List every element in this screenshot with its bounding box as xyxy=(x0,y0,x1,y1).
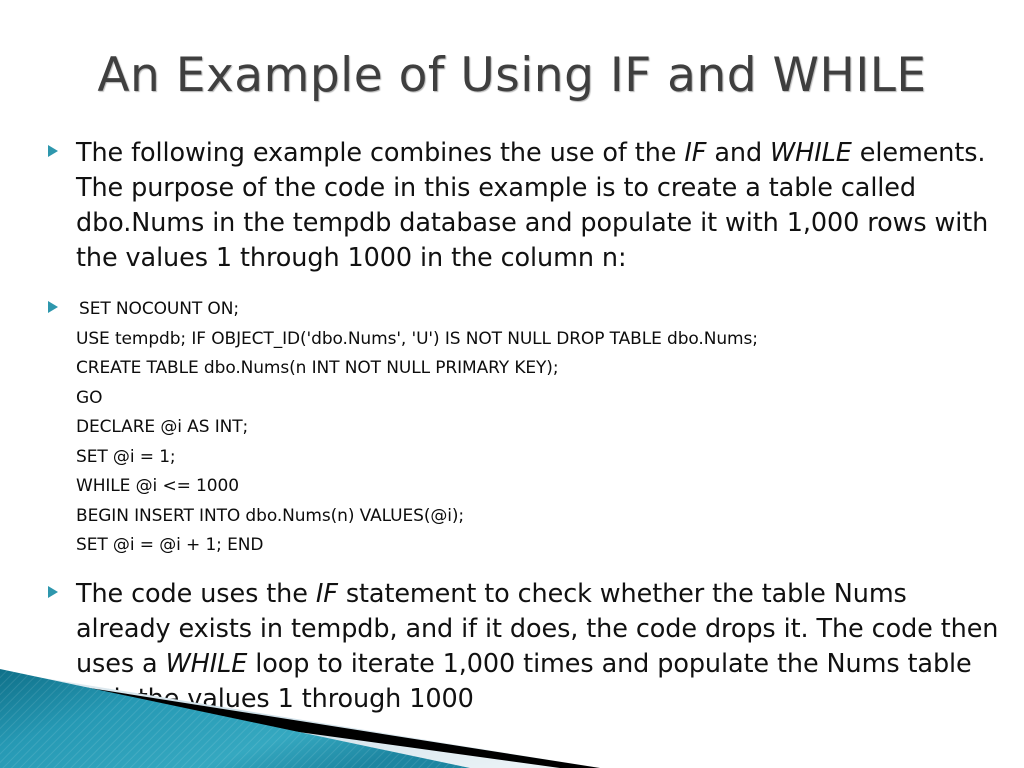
intro-text-part2: and xyxy=(706,138,770,168)
slide-body: The following example combines the use o… xyxy=(0,136,1024,717)
triangle-bullet-icon xyxy=(48,586,60,600)
code-listing: SET NOCOUNT ON; USE tempdb; IF OBJECT_ID… xyxy=(0,295,1024,561)
bullet-item-intro: The following example combines the use o… xyxy=(0,136,1024,276)
triangle-bullet-icon xyxy=(48,145,60,159)
code-line: WHILE @i <= 1000 xyxy=(76,472,1024,502)
code-line: BEGIN INSERT INTO dbo.Nums(n) VALUES(@i)… xyxy=(76,502,1024,532)
summary-paragraph: The code uses the IF statement to check … xyxy=(76,577,1006,717)
intro-keyword-while: WHILE xyxy=(770,138,852,168)
code-line: DECLARE @i AS INT; xyxy=(76,413,1024,443)
code-line: SET @i = 1; xyxy=(76,443,1024,473)
code-line: CREATE TABLE dbo.Nums(n INT NOT NULL PRI… xyxy=(76,354,1024,384)
code-line: GO xyxy=(76,384,1024,414)
code-line: SET @i = @i + 1; END xyxy=(76,531,1024,561)
bullet-item-summary: The code uses the IF statement to check … xyxy=(0,577,1024,717)
intro-paragraph: The following example combines the use o… xyxy=(76,136,1011,276)
triangle-bullet-icon xyxy=(48,301,60,315)
slide-canvas: An Example of Using IF and WHILE The fol… xyxy=(0,0,1024,768)
code-line: SET NOCOUNT ON; xyxy=(76,295,1024,325)
summary-keyword-if: IF xyxy=(316,579,338,609)
summary-keyword-while: WHILE xyxy=(166,649,248,679)
summary-text-part1: The code uses the xyxy=(76,579,316,609)
intro-keyword-if: IF xyxy=(684,138,706,168)
page-title: An Example of Using IF and WHILE xyxy=(0,48,1024,103)
code-line: USE tempdb; IF OBJECT_ID('dbo.Nums', 'U'… xyxy=(76,325,1024,355)
intro-text-part1: The following example combines the use o… xyxy=(76,138,684,168)
